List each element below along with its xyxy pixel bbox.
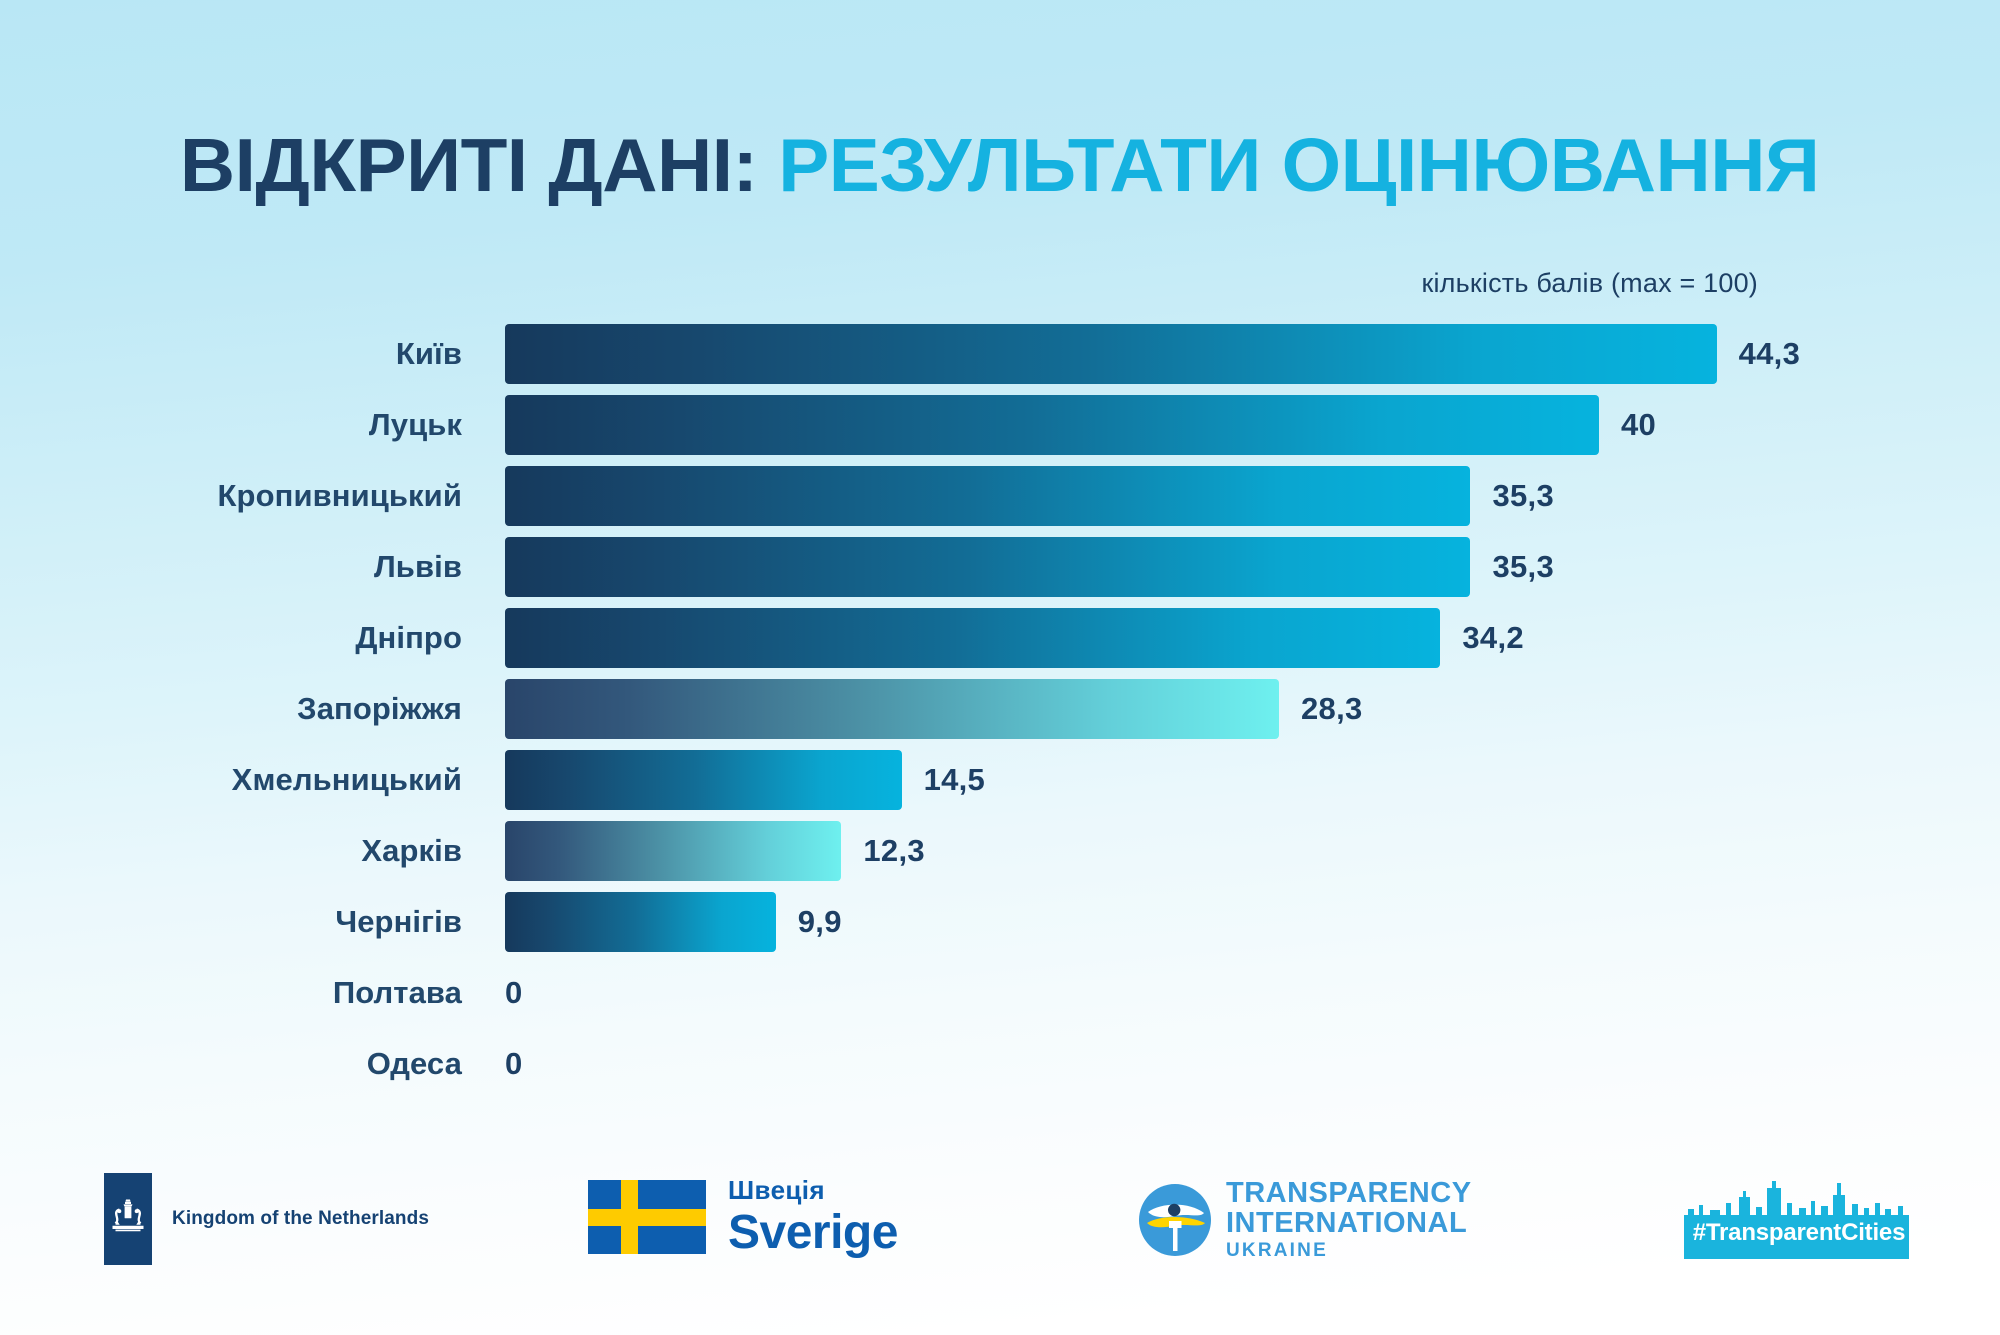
- logo-transparent-cities: #TransparentCities: [1684, 1181, 1914, 1259]
- sweden-flag-icon: [588, 1180, 706, 1254]
- bar: [505, 892, 776, 952]
- axis-caption: кількість балів (max = 100): [1421, 268, 1758, 299]
- bar-area: 9,9: [505, 886, 842, 957]
- bar-row: Запоріжжя28,3: [0, 673, 2000, 744]
- bar-category-label: Запоріжжя: [0, 673, 470, 744]
- bar-category-label: Кропивницький: [0, 460, 470, 531]
- bar: [505, 324, 1717, 384]
- transparency-wordmark: TRANSPARENCY INTERNATIONAL UKRAINE: [1226, 1179, 1472, 1261]
- bar: [505, 466, 1470, 526]
- page-title: ВІДКРИТІ ДАНІ: РЕЗУЛЬТАТИ ОЦІНЮВАННЯ: [0, 128, 2000, 203]
- bar-value-label: 40: [1621, 407, 1656, 443]
- netherlands-arms-svg: [110, 1199, 146, 1239]
- netherlands-coat-of-arms-icon: [104, 1173, 152, 1265]
- bar-area: 35,3: [505, 531, 1554, 602]
- bar-value-label: 28,3: [1301, 691, 1363, 727]
- bar-row: Львів35,3: [0, 531, 2000, 602]
- title-dark-segment: ВІДКРИТІ ДАНІ:: [180, 123, 758, 207]
- bar-area: 14,5: [505, 744, 985, 815]
- bar-value-label: 12,3: [863, 833, 925, 869]
- flag-cross-horizontal: [588, 1209, 706, 1226]
- bar-category-label: Львів: [0, 531, 470, 602]
- title-text: ВІДКРИТІ ДАНІ: РЕЗУЛЬТАТИ ОЦІНЮВАННЯ: [180, 128, 1819, 203]
- bar-category-label: Харків: [0, 815, 470, 886]
- transparency-globe-icon: [1138, 1183, 1212, 1257]
- bar-area: 0: [505, 957, 523, 1028]
- title-cyan-segment: РЕЗУЛЬТАТИ ОЦІНЮВАННЯ: [779, 123, 1820, 207]
- bar-value-label: 35,3: [1492, 549, 1554, 585]
- bar-category-label: Чернігів: [0, 886, 470, 957]
- bar-category-label: Дніпро: [0, 602, 470, 673]
- bar-area: 0: [505, 1028, 523, 1099]
- bar-row: Чернігів9,9: [0, 886, 2000, 957]
- bar: [505, 821, 841, 881]
- transparency-line1: TRANSPARENCY: [1226, 1179, 1472, 1209]
- logo-sweden: Швеція Sverige: [588, 1177, 898, 1257]
- sweden-label-sv: Sverige: [728, 1209, 898, 1257]
- bar-value-label: 35,3: [1492, 478, 1554, 514]
- footer-logos: Kingdom of the Netherlands Швеція Sverig…: [0, 1145, 2000, 1335]
- bar-row: Хмельницький14,5: [0, 744, 2000, 815]
- sweden-label-ua: Швеція: [728, 1177, 898, 1203]
- bar: [505, 750, 902, 810]
- bar: [505, 679, 1279, 739]
- logo-kingdom-of-netherlands: Kingdom of the Netherlands: [104, 1173, 429, 1265]
- bar-value-label: 34,2: [1462, 620, 1524, 656]
- sweden-wordmark: Швеція Sverige: [728, 1177, 898, 1257]
- bar-chart: Київ44,3Луцьк40Кропивницький35,3Львів35,…: [0, 318, 2000, 1099]
- bar-row: Полтава0: [0, 957, 2000, 1028]
- transparent-cities-label: #TransparentCities: [1684, 1219, 1914, 1247]
- transparency-line3: UKRAINE: [1226, 1241, 1472, 1260]
- transparency-line2: INTERNATIONAL: [1226, 1209, 1472, 1239]
- bar-area: 44,3: [505, 318, 1800, 389]
- bar-value-label: 0: [505, 975, 523, 1011]
- transparent-cities-badge: #TransparentCities: [1684, 1181, 1914, 1259]
- bar-row: Одеса0: [0, 1028, 2000, 1099]
- bar-area: 40: [505, 389, 1656, 460]
- bar-area: 34,2: [505, 602, 1524, 673]
- bar: [505, 395, 1599, 455]
- netherlands-label: Kingdom of the Netherlands: [172, 1208, 429, 1230]
- bar-area: 28,3: [505, 673, 1363, 744]
- bar-value-label: 14,5: [924, 762, 986, 798]
- bar: [505, 608, 1440, 668]
- bar-value-label: 44,3: [1739, 336, 1801, 372]
- bar-row: Київ44,3: [0, 318, 2000, 389]
- flag-cross-vertical: [621, 1180, 638, 1254]
- bar-row: Харків12,3: [0, 815, 2000, 886]
- bar-row: Луцьк40: [0, 389, 2000, 460]
- bar-category-label: Полтава: [0, 957, 470, 1028]
- bar-area: 12,3: [505, 815, 925, 886]
- bar-category-label: Київ: [0, 318, 470, 389]
- bar-category-label: Одеса: [0, 1028, 470, 1099]
- logo-transparency-international: TRANSPARENCY INTERNATIONAL UKRAINE: [1138, 1179, 1472, 1261]
- bar: [505, 537, 1470, 597]
- bar-category-label: Луцьк: [0, 389, 470, 460]
- bar-row: Дніпро34,2: [0, 602, 2000, 673]
- bar-area: 35,3: [505, 460, 1554, 531]
- bar-row: Кропивницький35,3: [0, 460, 2000, 531]
- bar-value-label: 0: [505, 1046, 523, 1082]
- bar-category-label: Хмельницький: [0, 744, 470, 815]
- bar-value-label: 9,9: [798, 904, 842, 940]
